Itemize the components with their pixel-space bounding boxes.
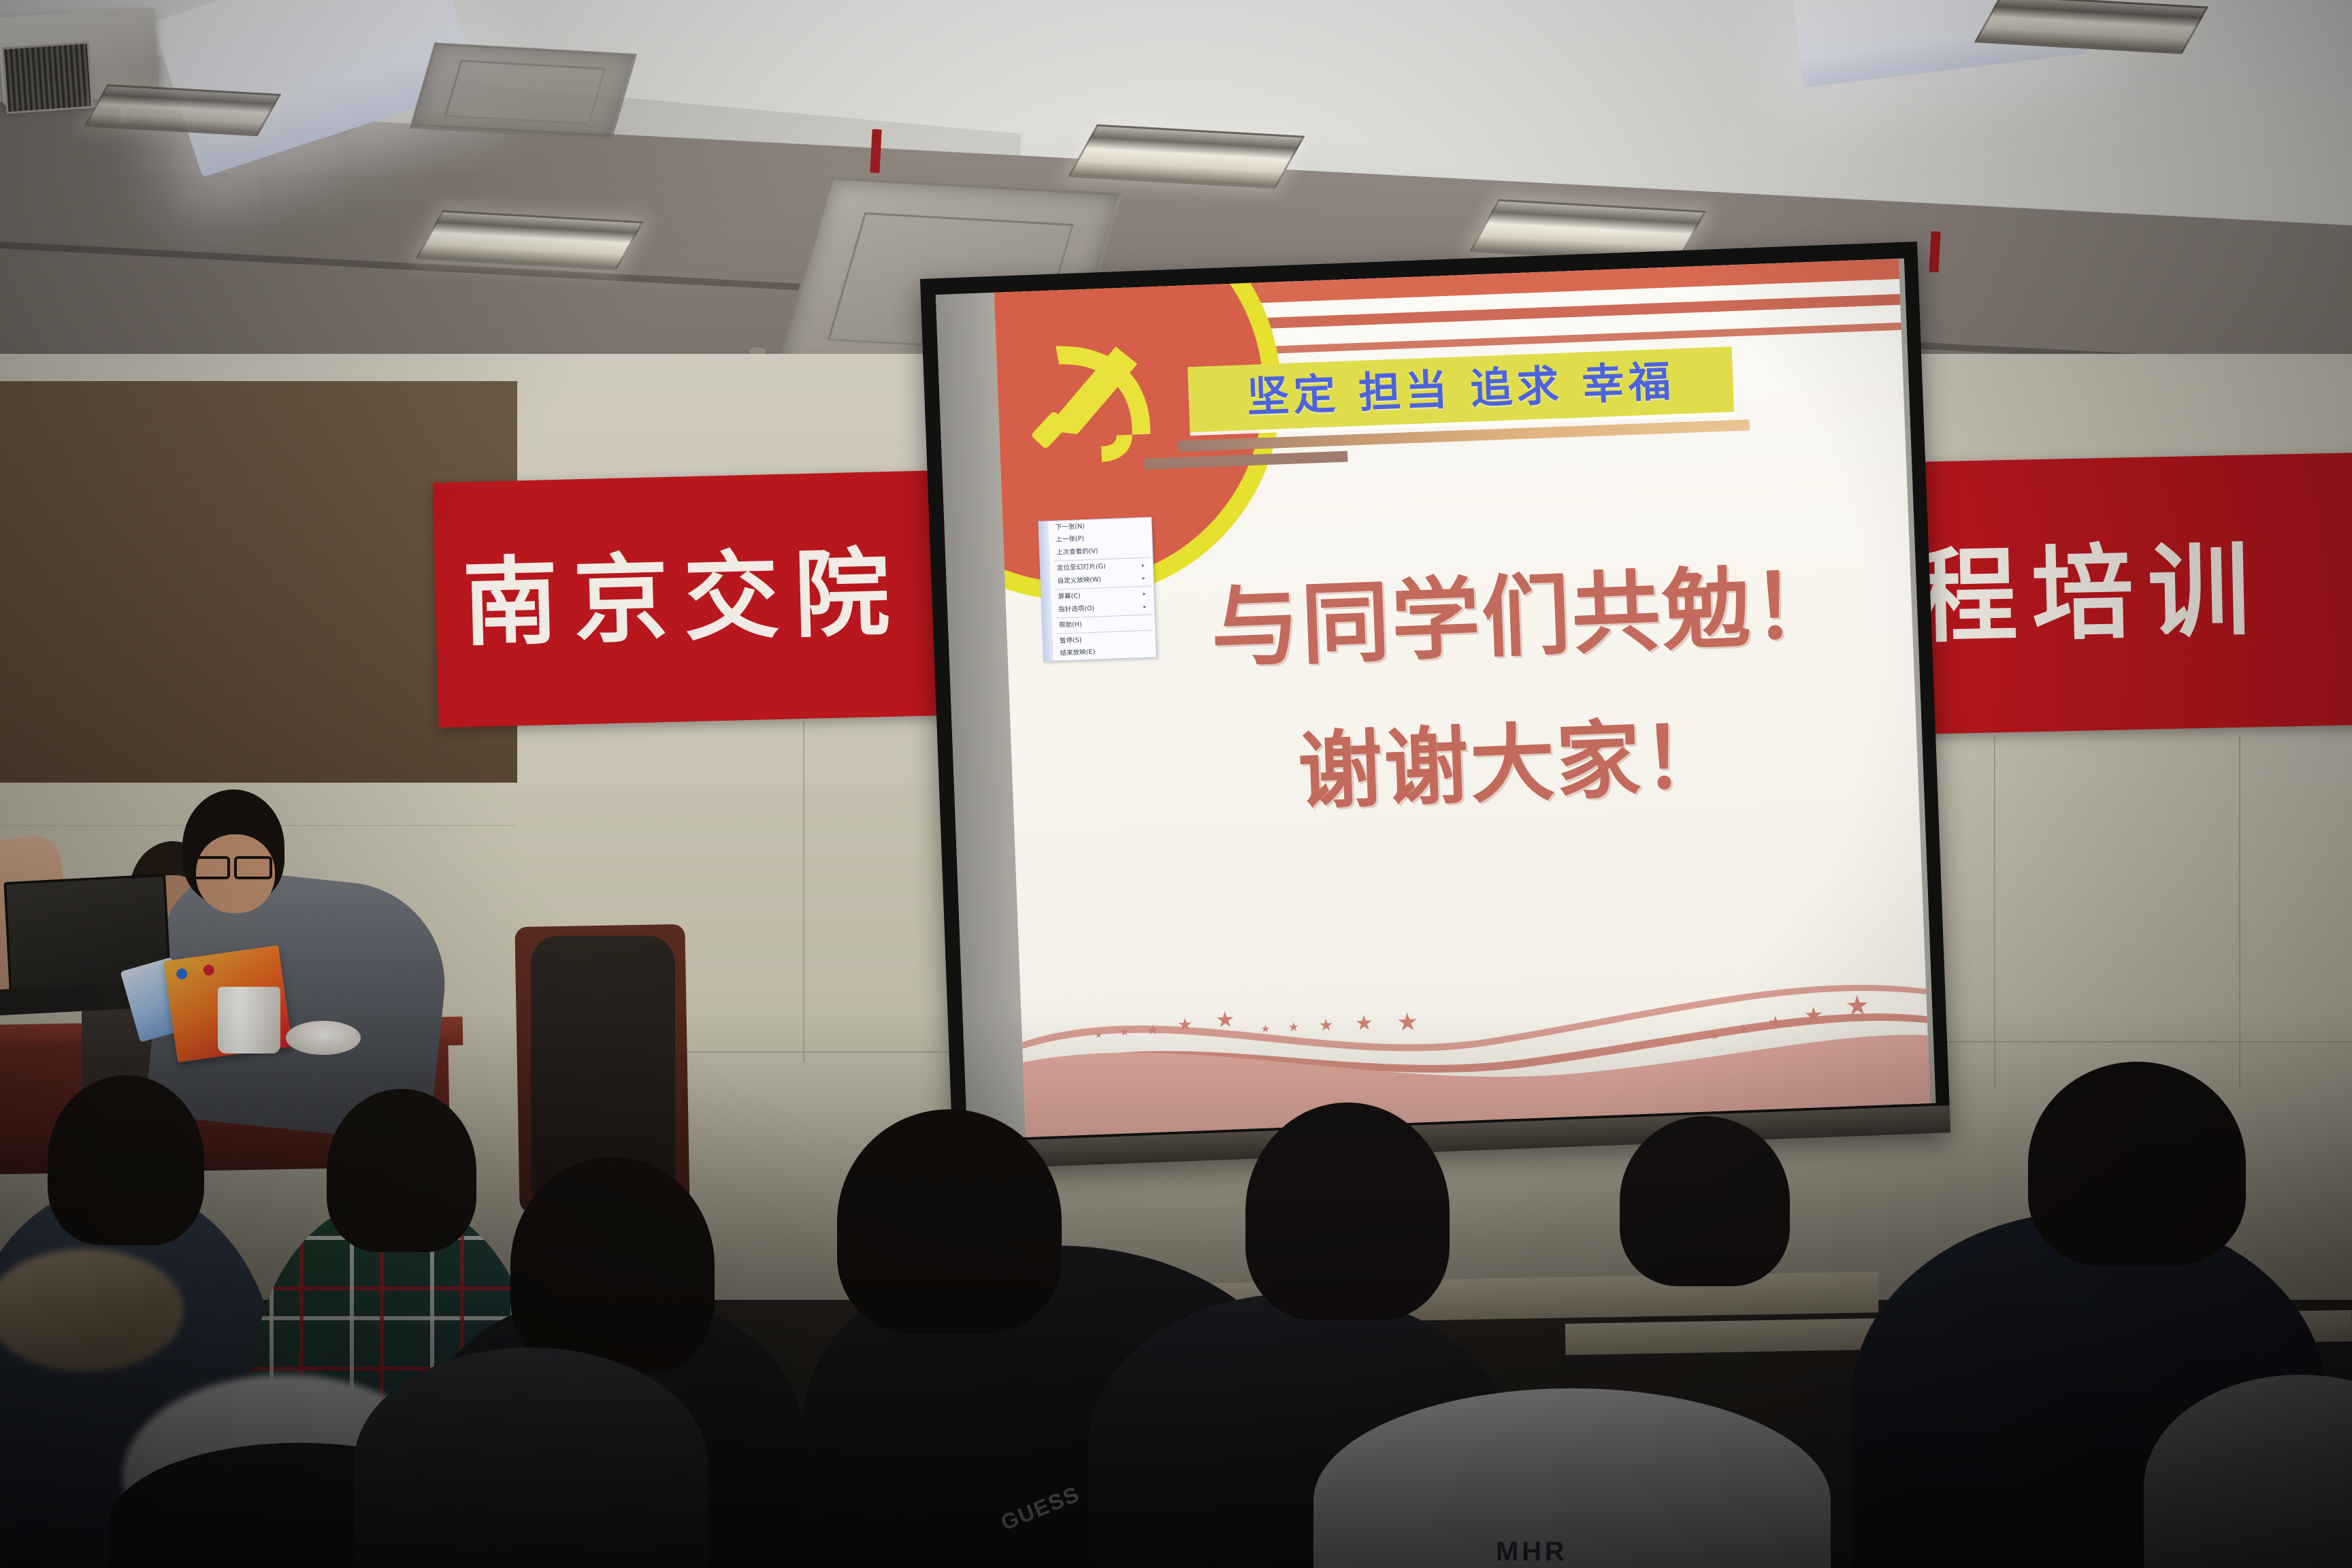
- projection-screen[interactable]: 坚定 担当 追求 幸福 与同学们共勉！ 谢谢大家！ ★ ★ ★: [920, 242, 1950, 1170]
- slide-star-icon: ★: [1396, 1009, 1419, 1034]
- slide-star-icon: ★: [1845, 992, 1870, 1019]
- slide-star-icon: ★: [1260, 1024, 1270, 1034]
- audience-member-head: [1245, 1102, 1450, 1320]
- slide-star-icon: ★: [1767, 1014, 1783, 1032]
- audience-member-head: [327, 1089, 476, 1252]
- banner-right-text: 程培训: [1896, 453, 2352, 735]
- context-menu-item-label: 上次查看的(V): [1056, 548, 1098, 557]
- white-jacket-text: MHR: [1496, 1537, 1568, 1567]
- slide-star-icon: ★: [1318, 1017, 1333, 1034]
- white-cup: [218, 987, 280, 1053]
- submenu-arrow-icon: ▸: [1142, 562, 1145, 569]
- slide-star-icon: ★: [1147, 1023, 1160, 1037]
- slide-star-icon: ★: [1710, 1031, 1719, 1041]
- submenu-arrow-icon: ▸: [1142, 575, 1145, 582]
- presenter-chair-cushion: [531, 936, 675, 1194]
- slide-body-line-1: 与同学们共勉！: [1209, 534, 1845, 685]
- tile-grout-line: [1994, 735, 1995, 1089]
- slide-body-line-2: 谢谢大家！: [1296, 687, 1731, 826]
- context-menu-item-label: 帮助(H): [1059, 621, 1082, 630]
- audience-member-head: [2028, 1062, 2246, 1266]
- hammer-and-sickle-icon: [1015, 313, 1177, 475]
- slide-star-icon: ★: [1215, 1009, 1235, 1031]
- slide-star-icon: ★: [1737, 1023, 1750, 1036]
- context-menu-item-label: 上一张(P): [1056, 536, 1084, 544]
- context-menu-item-label: 暂停(S): [1060, 636, 1082, 645]
- context-menu-item-label: 定位至幻灯片(G): [1057, 563, 1106, 573]
- slide-wave-decoration: ★ ★ ★ ★ ★ ★ ★ ★ ★ ★ ★ ★ ★ ★ ★: [1019, 926, 1931, 1137]
- banner-left-text: 南京交院: [433, 470, 956, 728]
- powerpoint-slideshow-context-menu[interactable]: 下一张(N)上一张(P)上次查看的(V)定位至幻灯片(G)▸自定义放映(W)▸屏…: [1038, 517, 1157, 661]
- audience-member-head: [837, 1109, 1062, 1334]
- wall-banner-right: 程培训: [1896, 453, 2352, 735]
- slide-star-icon: ★: [1354, 1013, 1373, 1034]
- submenu-arrow-icon: ▸: [1143, 591, 1145, 598]
- context-menu-item-label: 下一张(N): [1056, 523, 1085, 532]
- context-menu-item-label: 结束放映(E): [1060, 649, 1096, 658]
- audience-member-head: [48, 1075, 204, 1245]
- eyeglasses-icon: [192, 856, 276, 874]
- context-menu-item-label: 自定义放映(W): [1058, 576, 1102, 585]
- slide-star-icon: ★: [1120, 1027, 1130, 1039]
- audience-member-head: [1620, 1116, 1790, 1286]
- tile-grout-line: [803, 721, 804, 1062]
- projector-vent-grille: [2, 42, 94, 114]
- audience-member-coat: [354, 1347, 708, 1568]
- context-menu-item-label: 屏幕(C): [1058, 592, 1080, 601]
- submenu-arrow-icon: ▸: [1143, 604, 1146, 610]
- saucer: [286, 1021, 361, 1055]
- powerpoint-slide[interactable]: 坚定 担当 追求 幸福 与同学们共勉！ 谢谢大家！ ★ ★ ★: [994, 259, 1931, 1137]
- wall-banner-left: 南京交院: [433, 470, 956, 728]
- ceiling-ac-cassette-2: [410, 43, 637, 140]
- audience-member-head: [510, 1157, 715, 1375]
- slide-star-icon: ★: [1177, 1017, 1193, 1034]
- context-menu-item-label: 指针选项(O): [1058, 604, 1094, 614]
- recessed-ceiling-light-2: [1068, 125, 1305, 189]
- lecture-hall-scene: 南京交院 程培训: [0, 0, 2352, 1568]
- screen-surface[interactable]: 坚定 担当 追求 幸福 与同学们共勉！ 谢谢大家！ ★ ★ ★: [936, 259, 1936, 1140]
- slide-star-icon: ★: [1288, 1021, 1299, 1034]
- slide-star-icon: ★: [1094, 1030, 1102, 1039]
- slide-star-icon: ★: [1803, 1004, 1824, 1026]
- tile-grout-line: [2239, 735, 2240, 1089]
